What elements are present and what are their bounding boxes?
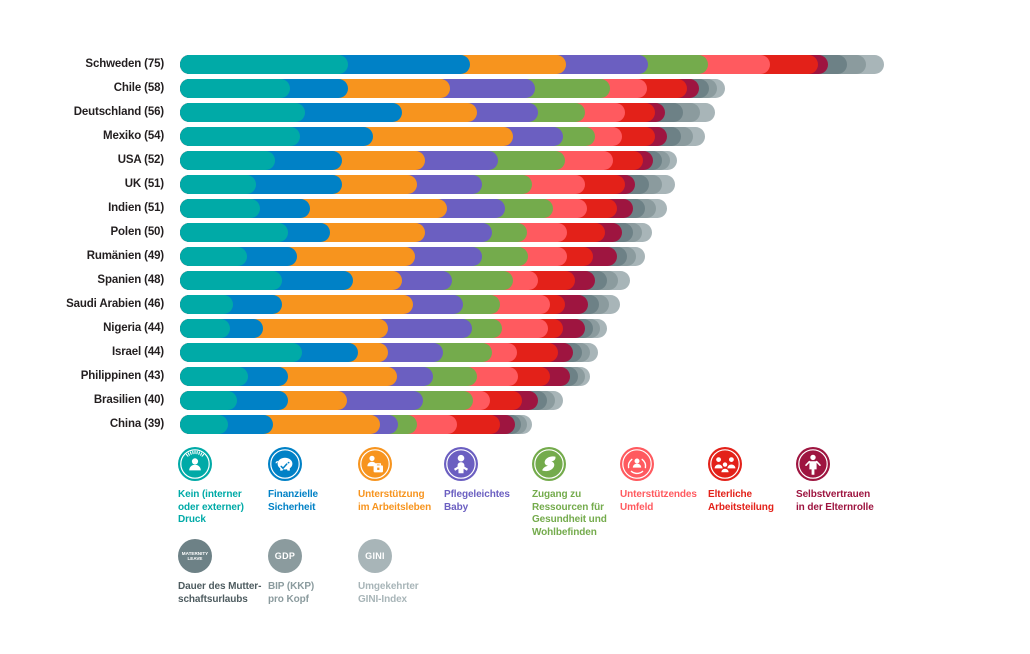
- stacked-bar: [180, 175, 675, 194]
- legend-item[interactable]: GINIUmgekehrter GINI-Index: [358, 539, 456, 606]
- legend-item[interactable]: MATERNITY LEAVEDauer des Mutter- schafts…: [178, 539, 276, 606]
- country-label: Nigeria (44): [0, 316, 172, 340]
- chart-row: UK (51): [0, 172, 1030, 196]
- bar-segment: [180, 55, 348, 74]
- bar-segment: [180, 415, 228, 434]
- stacked-bar: [180, 271, 630, 290]
- country-label: Rumänien (49): [0, 244, 172, 268]
- bar-segment: [180, 151, 275, 170]
- maternity-leave-icon: MATERNITY LEAVE: [178, 539, 212, 573]
- legend-item[interactable]: Unterstützung im Arbeitsleben: [358, 447, 456, 514]
- legend-row-primary: Kein (interner oder externer) DruckFinan…: [0, 447, 1030, 539]
- country-label: Indien (51): [0, 196, 172, 220]
- bar-segment: [180, 295, 233, 314]
- stacked-bar: [180, 247, 645, 266]
- bar-segment: [180, 319, 230, 338]
- icon-text: MATERNITY LEAVE: [178, 539, 212, 573]
- support-icon: [620, 447, 654, 481]
- gini-icon: GINI: [358, 539, 392, 573]
- infographic-root: Schweden (75)Chile (58)Deutschland (56)M…: [0, 0, 1030, 654]
- bar-segment: [180, 127, 300, 146]
- country-label: China (39): [0, 412, 172, 436]
- chart-row: Indien (51): [0, 196, 1030, 220]
- country-label: USA (52): [0, 148, 172, 172]
- bar-segment: [180, 79, 290, 98]
- country-label: Schweden (75): [0, 52, 172, 76]
- family-icon: [708, 447, 742, 481]
- chart-legend: Kein (interner oder externer) DruckFinan…: [0, 447, 1030, 654]
- legend-item[interactable]: Pflegeleichtes Baby: [444, 447, 542, 514]
- stacked-bar: [180, 295, 620, 314]
- bar-segment: [180, 175, 256, 194]
- chart-row: Israel (44): [0, 340, 1030, 364]
- stacked-bar: [180, 79, 725, 98]
- chart-row: Schweden (75): [0, 52, 1030, 76]
- stacked-bar-chart: Schweden (75)Chile (58)Deutschland (56)M…: [0, 52, 1030, 447]
- chart-row: USA (52): [0, 148, 1030, 172]
- chart-row: Spanien (48): [0, 268, 1030, 292]
- country-label: Brasilien (40): [0, 388, 172, 412]
- country-label: Deutschland (56): [0, 100, 172, 124]
- bar-segment: [180, 367, 248, 386]
- chart-row: Chile (58): [0, 76, 1030, 100]
- bar-segment: [180, 223, 288, 242]
- country-label: UK (51): [0, 172, 172, 196]
- baby-icon: [444, 447, 478, 481]
- legend-item[interactable]: Kein (interner oder externer) Druck: [178, 447, 276, 527]
- bar-segment: [180, 199, 260, 218]
- chart-row: Polen (50): [0, 220, 1030, 244]
- country-label: Mexiko (54): [0, 124, 172, 148]
- chart-row: Rumänien (49): [0, 244, 1030, 268]
- stacked-bar: [180, 391, 563, 410]
- chart-row: Deutschland (56): [0, 100, 1030, 124]
- health-icon: [532, 447, 566, 481]
- legend-label: Umgekehrter GINI-Index: [358, 581, 466, 606]
- worklife-icon: [358, 447, 392, 481]
- bar-segment: [180, 391, 237, 410]
- legend-item[interactable]: Finanzielle Sicherheit: [268, 447, 366, 514]
- country-label: Chile (58): [0, 76, 172, 100]
- country-label: Spanien (48): [0, 268, 172, 292]
- stacked-bar: [180, 199, 667, 218]
- country-label: Israel (44): [0, 340, 172, 364]
- country-label: Philippinen (43): [0, 364, 172, 388]
- piggybank-icon: [268, 447, 302, 481]
- chart-row: China (39): [0, 412, 1030, 436]
- legend-label: Elterliche Arbeitsteilung: [708, 489, 806, 514]
- legend-label: Unterstützendes Umfeld: [620, 489, 718, 514]
- country-label: Polen (50): [0, 220, 172, 244]
- legend-label: Kein (interner oder externer) Druck: [178, 489, 276, 527]
- stacked-bar: [180, 127, 705, 146]
- chart-row: Mexiko (54): [0, 124, 1030, 148]
- stacked-bar: [180, 151, 677, 170]
- legend-label: Selbstvertrauen in der Elternrolle: [796, 489, 908, 514]
- stacked-bar: [180, 343, 598, 362]
- legend-label: Finanzielle Sicherheit: [268, 489, 366, 514]
- legend-label: Unterstützung im Arbeitsleben: [358, 489, 456, 514]
- bar-segment: [180, 343, 302, 362]
- chart-row: Philippinen (43): [0, 364, 1030, 388]
- stacked-bar: [180, 367, 590, 386]
- bar-segment: [180, 103, 305, 122]
- pressure-icon: [178, 447, 212, 481]
- icon-text: GDP: [268, 539, 302, 573]
- legend-label: Pflegeleichtes Baby: [444, 489, 542, 514]
- bar-segment: [180, 271, 282, 290]
- chart-row: Saudi Arabien (46): [0, 292, 1030, 316]
- stacked-bar: [180, 55, 884, 74]
- legend-row-secondary: MATERNITY LEAVEDauer des Mutter- schafts…: [0, 539, 1030, 631]
- stacked-bar: [180, 103, 715, 122]
- stacked-bar: [180, 223, 652, 242]
- bar-segment: [180, 247, 247, 266]
- icon-text: GINI: [358, 539, 392, 573]
- chart-row: Brasilien (40): [0, 388, 1030, 412]
- legend-item[interactable]: Elterliche Arbeitsteilung: [708, 447, 806, 514]
- legend-item[interactable]: Selbstvertrauen in der Elternrolle: [796, 447, 908, 514]
- legend-item[interactable]: GDPBIP (KKP) pro Kopf: [268, 539, 366, 606]
- stacked-bar: [180, 319, 607, 338]
- chart-row: Nigeria (44): [0, 316, 1030, 340]
- stacked-bar: [180, 415, 532, 434]
- confidence-icon: [796, 447, 830, 481]
- country-label: Saudi Arabien (46): [0, 292, 172, 316]
- legend-item[interactable]: Unterstützendes Umfeld: [620, 447, 718, 514]
- gdp-icon: GDP: [268, 539, 302, 573]
